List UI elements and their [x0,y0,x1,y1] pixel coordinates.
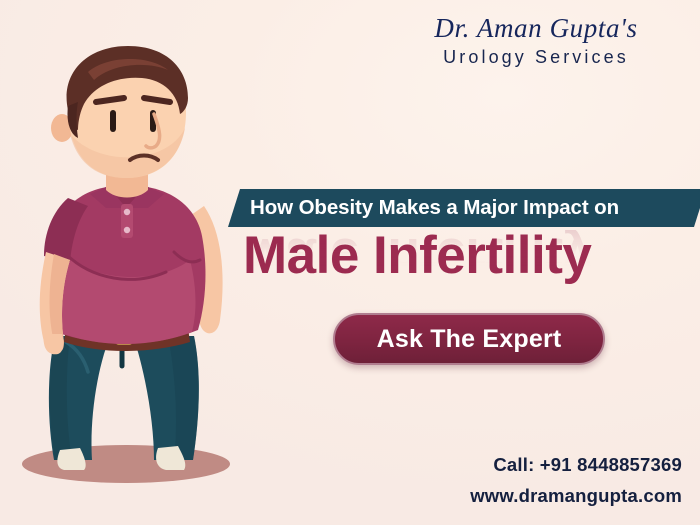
shirt-button-bottom [124,227,130,233]
ask-the-expert-button[interactable]: Ask The Expert [333,313,605,365]
shoe-left [57,448,85,470]
headline-banner: How Obesity Makes a Major Impact on [228,189,700,227]
phone-number[interactable]: Call: +91 8448857369 [470,454,682,476]
brand-tagline: Urology Services [386,47,686,68]
hand-left [44,334,64,354]
contact-block: Call: +91 8448857369 www.dramangupta.com [470,454,682,507]
overweight-man-illustration [8,36,258,506]
ask-the-expert-label: Ask The Expert [377,325,562,354]
eyebrow-left [96,98,124,102]
poster-canvas: Dr. Aman Gupta's Urology Services How Ob… [0,0,700,525]
eyebrow-right [144,98,170,102]
website-url[interactable]: www.dramangupta.com [470,485,682,507]
shirt-button-top [124,209,130,215]
brand-name: Dr. Aman Gupta's [386,14,686,42]
brand-header: Dr. Aman Gupta's Urology Services [386,14,686,68]
headline-main: Male Infertility [243,229,591,282]
headline-banner-text: How Obesity Makes a Major Impact on [250,196,619,220]
eye-left [110,110,116,132]
